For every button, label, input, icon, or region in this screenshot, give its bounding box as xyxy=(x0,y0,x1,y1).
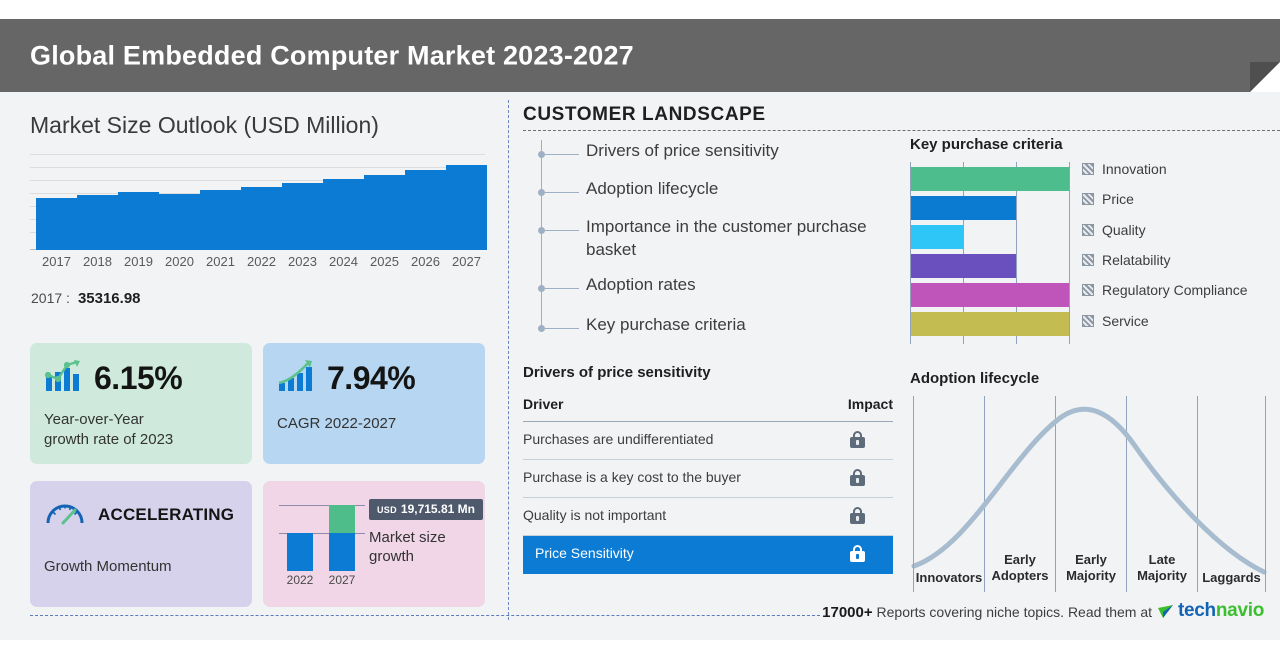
table-row[interactable]: Purchases are undifferentiated xyxy=(523,422,893,460)
stage-label-laggards: Laggards xyxy=(1198,570,1265,586)
bullet-dot-icon xyxy=(538,227,545,234)
legend-label: Price xyxy=(1102,191,1134,207)
kpc-bar-quality xyxy=(911,225,963,249)
topic-label: Adoption lifecycle xyxy=(586,178,896,201)
adoption-lifecycle-chart: Adoption lifecycle Innovators xyxy=(900,364,1280,614)
column-header-driver: Driver xyxy=(523,396,563,412)
bullet-dot-icon xyxy=(538,151,545,158)
legend-item-quality: Quality xyxy=(1082,219,1146,241)
report-count: 17000+ xyxy=(822,604,872,621)
legend-swatch-icon xyxy=(1082,254,1094,266)
x-label-2024: 2024 xyxy=(323,254,364,269)
kpi-card-momentum: ACCELERATING Growth Momentum xyxy=(30,481,252,607)
column-header-impact: Impact xyxy=(848,396,893,412)
technavio-logo[interactable]: technavio xyxy=(1157,600,1264,622)
bar-2025 xyxy=(364,154,405,250)
kpi-cagr-top: 7.94% xyxy=(277,359,415,398)
kpc-bar-relatability xyxy=(911,254,1016,278)
stage-label-early-majority: Early Majority xyxy=(1056,552,1126,585)
key-purchase-criteria-chart: Key purchase criteria Innovation xyxy=(900,130,1280,345)
page-header: Global Embedded Computer Market 2023-202… xyxy=(0,19,1280,92)
legend-swatch-icon xyxy=(1082,224,1094,236)
kpi-momentum-top: ACCELERATING xyxy=(44,497,234,532)
x-label-2021: 2021 xyxy=(200,254,241,269)
topic-item-adoption-lifecycle[interactable]: Adoption lifecycle xyxy=(533,178,903,208)
market-size-bar-chart xyxy=(30,154,485,250)
stage-label-early-adopters: Early Adopters xyxy=(985,552,1055,585)
market-size-growth-mini-chart: 2022 2027 xyxy=(279,499,365,587)
kpc-gridline-3 xyxy=(1069,162,1070,344)
kpi-card-yoy: 6.15% Year-over-Year growth rate of 2023 xyxy=(30,343,252,464)
lock-icon xyxy=(850,545,865,567)
bar-2019 xyxy=(118,154,159,250)
kpc-title: Key purchase criteria xyxy=(910,136,1063,153)
bar-2020 xyxy=(159,154,200,250)
kpc-bar-innovation xyxy=(911,167,1069,191)
kpi-card-market-size-growth: 2022 2027 USD19,715.81 Mn Market size gr… xyxy=(263,481,485,607)
customer-landscape-panel: CUSTOMER LANDSCAPE Drivers of price sens… xyxy=(508,92,1280,640)
kpi-cagr-value: 7.94% xyxy=(327,360,415,397)
connector-line xyxy=(545,288,579,289)
topic-item-drivers-of-price-sensitivity[interactable]: Drivers of price sensitivity xyxy=(533,140,903,170)
connector-line xyxy=(545,154,579,155)
topic-item-key-purchase-criteria[interactable]: Key purchase criteria xyxy=(533,314,903,344)
lock-icon xyxy=(850,431,865,453)
legend-label: Quality xyxy=(1102,222,1146,238)
legend-item-innovation: Innovation xyxy=(1082,158,1167,180)
legend-item-regulatory-compliance: Regulatory Compliance xyxy=(1082,279,1248,301)
driver-name: Purchase is a key cost to the buyer xyxy=(523,469,741,485)
badge-currency: USD xyxy=(377,505,397,515)
x-label-2022: 2022 xyxy=(241,254,282,269)
logo-tech: tech xyxy=(1178,600,1216,621)
legend-item-price: Price xyxy=(1082,188,1134,210)
lock-icon xyxy=(850,469,865,491)
kpc-bar-price xyxy=(911,196,1016,220)
badge-value: 19,715.81 Mn xyxy=(401,502,475,516)
kpi-cagr-caption: CAGR 2022-2027 xyxy=(277,414,396,434)
bar-2018 xyxy=(77,154,118,250)
mini-bar-2027 xyxy=(329,505,355,571)
bullet-dot-icon xyxy=(538,189,545,196)
legend-item-service: Service xyxy=(1082,310,1149,332)
kpc-bar-service xyxy=(911,312,1069,336)
x-label-2025: 2025 xyxy=(364,254,405,269)
stage-label-late-majority: Late Majority xyxy=(1127,552,1197,585)
mini-bar-label-2022: 2022 xyxy=(283,573,317,587)
page-body: Market Size Outlook (USD Million) 2017 xyxy=(0,92,1280,640)
x-label-2027: 2027 xyxy=(446,254,487,269)
page-footer: 17000+ Reports covering niche topics. Re… xyxy=(0,602,1280,628)
connector-line xyxy=(545,328,579,329)
topic-label: Adoption rates xyxy=(586,274,896,297)
x-label-2019: 2019 xyxy=(118,254,159,269)
kpi-yoy-caption: Year-over-Year growth rate of 2023 xyxy=(44,410,173,450)
logo-wordmark: technavio xyxy=(1178,600,1264,622)
topic-label: Drivers of price sensitivity xyxy=(586,140,896,163)
mini-bar-2022 xyxy=(287,533,313,571)
connector-line xyxy=(545,192,579,193)
table-row[interactable]: Quality is not important xyxy=(523,498,893,536)
header-fold-corner xyxy=(1250,62,1280,92)
driver-name: Quality is not important xyxy=(523,507,666,523)
bar-2021 xyxy=(200,154,241,250)
topic-label: Importance in the customer purchase bask… xyxy=(586,216,896,262)
market-size-panel: Market Size Outlook (USD Million) 2017 xyxy=(0,92,508,640)
market-size-growth-badge: USD19,715.81 Mn xyxy=(369,499,483,520)
kpc-plot xyxy=(910,162,1070,344)
bar-2022 xyxy=(241,154,282,250)
x-label-2020: 2020 xyxy=(159,254,200,269)
kpi-yoy-top: 6.15% xyxy=(44,359,182,398)
lifecycle-title: Adoption lifecycle xyxy=(910,370,1039,387)
bar-2027 xyxy=(446,154,487,250)
bar-2024 xyxy=(323,154,364,250)
stage-label-innovators: Innovators xyxy=(914,570,984,586)
label-divider xyxy=(1265,550,1266,592)
paper-plane-icon xyxy=(1157,603,1174,620)
bar-2023 xyxy=(282,154,323,250)
legend-swatch-icon xyxy=(1082,163,1094,175)
bar-line-growth-icon xyxy=(44,359,82,398)
table-row[interactable]: Purchase is a key cost to the buyer xyxy=(523,460,893,498)
legend-label: Relatability xyxy=(1102,252,1170,268)
market-size-growth-caption: Market size growth xyxy=(369,528,481,566)
drivers-table: Drivers of price sensitivity Driver Impa… xyxy=(523,364,908,381)
legend-label: Regulatory Compliance xyxy=(1102,282,1248,298)
bar-2017 xyxy=(36,154,77,250)
logo-navio: navio xyxy=(1216,600,1264,621)
x-label-2023: 2023 xyxy=(282,254,323,269)
kpi-card-cagr: 7.94% CAGR 2022-2027 xyxy=(263,343,485,464)
base-year-number: 35316.98 xyxy=(78,290,141,307)
kpi-momentum-caption: Growth Momentum xyxy=(44,557,172,577)
lock-icon xyxy=(850,507,865,529)
topic-label: Key purchase criteria xyxy=(586,314,896,337)
legend-swatch-icon xyxy=(1082,284,1094,296)
kpc-bar-regulatory-compliance xyxy=(911,283,1069,307)
bar-arrow-growth-icon xyxy=(277,359,315,398)
legend-label: Innovation xyxy=(1102,161,1167,177)
customer-landscape-topics: Drivers of price sensitivity Adoption li… xyxy=(533,136,903,336)
topic-item-importance-in-purchase-basket[interactable]: Importance in the customer purchase bask… xyxy=(533,216,903,264)
legend-item-relatability: Relatability xyxy=(1082,249,1170,271)
base-year-label: 2017 : xyxy=(31,290,70,306)
drivers-title: Drivers of price sensitivity xyxy=(523,364,908,381)
driver-name: Purchases are undifferentiated xyxy=(523,431,713,447)
kpi-yoy-value: 6.15% xyxy=(94,360,182,397)
legend-swatch-icon xyxy=(1082,315,1094,327)
lifecycle-stage-labels: Innovators Early Adopters Early Majority… xyxy=(910,550,1268,592)
legend-label: Service xyxy=(1102,313,1149,329)
page-title: Global Embedded Computer Market 2023-202… xyxy=(30,40,634,71)
x-label-2017: 2017 xyxy=(36,254,77,269)
driver-name: Price Sensitivity xyxy=(535,545,634,561)
bar-2026 xyxy=(405,154,446,250)
mini-bar-label-2027: 2027 xyxy=(325,573,359,587)
base-year-value: 2017 :35316.98 xyxy=(31,290,141,307)
topic-item-adoption-rates[interactable]: Adoption rates xyxy=(533,274,903,304)
market-size-title: Market Size Outlook (USD Million) xyxy=(30,112,379,139)
footer-text: 17000+ Reports covering niche topics. Re… xyxy=(822,604,1152,621)
x-label-2026: 2026 xyxy=(405,254,446,269)
connector-line xyxy=(545,230,579,231)
table-row-highlighted[interactable]: Price Sensitivity xyxy=(523,536,893,574)
customer-landscape-title: CUSTOMER LANDSCAPE xyxy=(523,104,766,126)
footer-caption: Reports covering niche topics. Read them… xyxy=(877,604,1152,620)
kpi-momentum-value: ACCELERATING xyxy=(98,505,234,525)
bar-chart-x-labels: 2017 2018 2019 2020 2021 2022 2023 2024 … xyxy=(30,254,485,272)
bullet-dot-icon xyxy=(538,285,545,292)
speedometer-icon xyxy=(44,497,86,532)
drivers-table-header: Driver Impact xyxy=(523,396,893,422)
x-label-2018: 2018 xyxy=(77,254,118,269)
legend-swatch-icon xyxy=(1082,193,1094,205)
bullet-dot-icon xyxy=(538,325,545,332)
